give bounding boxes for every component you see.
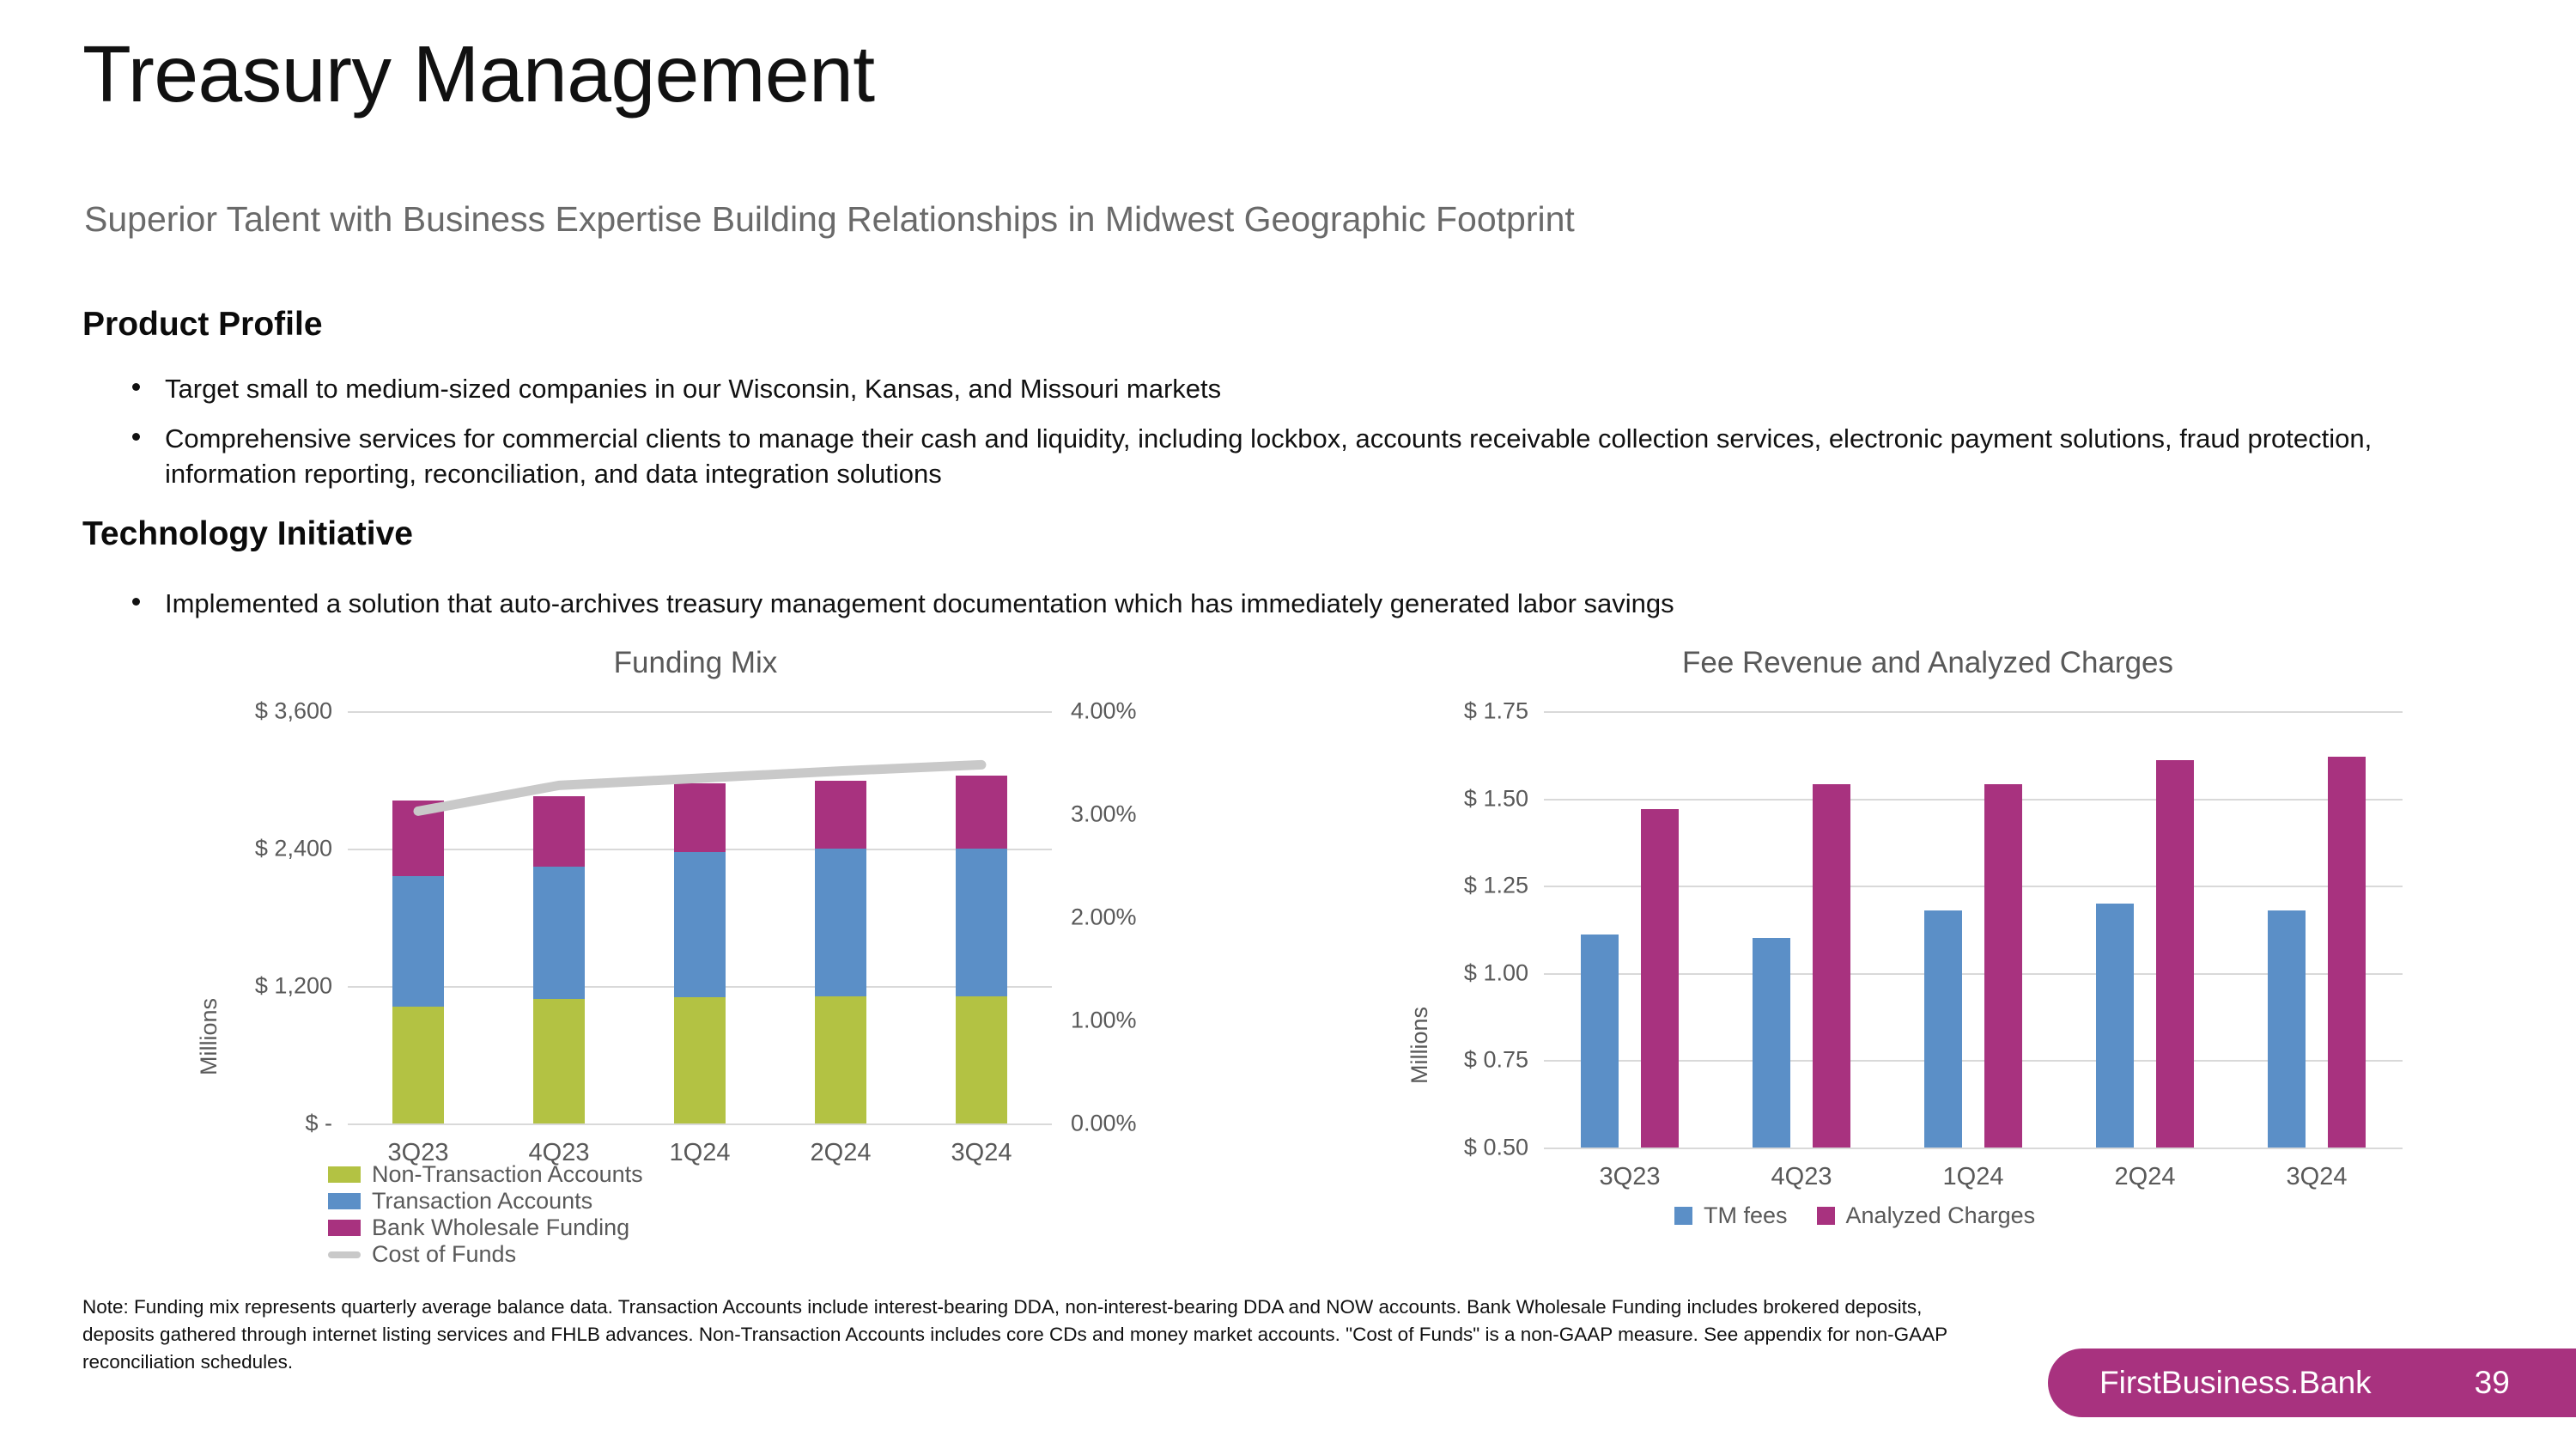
chart-secondary-y-tick-label: 0.00% <box>1071 1111 1137 1137</box>
bullet-dot-icon <box>132 383 140 391</box>
chart-y-tick-label: $ 1.00 <box>1391 959 1528 986</box>
chart-title: Fee Revenue and Analyzed Charges <box>1391 646 2464 680</box>
chart-funding-mix: Funding Mix Millions $ -$ 1,200$ 2,400$ … <box>180 646 1211 1196</box>
chart-bar <box>1581 935 1619 1148</box>
chart-bar <box>2328 757 2366 1148</box>
legend-swatch-icon <box>328 1220 361 1236</box>
chart-x-tick-label: 4Q23 <box>1716 1163 1887 1191</box>
chart-x-tick-label: 3Q23 <box>1544 1163 1716 1191</box>
bullet-list-product-profile: Target small to medium-sized companies i… <box>120 371 2507 492</box>
bullet-text: Target small to medium-sized companies i… <box>165 374 1221 404</box>
page-number: 39 <box>2475 1365 2510 1401</box>
list-item: Comprehensive services for commercial cl… <box>120 421 2507 492</box>
chart-x-tick-label: 3Q24 <box>2231 1163 2403 1191</box>
chart-plot-area <box>348 711 1052 1123</box>
chart-legend: TM feesAnalyzed Charges <box>1674 1202 2275 1229</box>
chart-x-tick-label: 1Q24 <box>1887 1163 2059 1191</box>
chart-x-tick-label: 3Q24 <box>911 1139 1052 1167</box>
legend-label: Transaction Accounts <box>372 1188 592 1215</box>
bullet-text: Implemented a solution that auto-archive… <box>165 588 1674 618</box>
chart-gridline <box>1544 1148 2403 1149</box>
chart-y-tick-label: $ 1.50 <box>1391 785 1528 812</box>
chart-title: Funding Mix <box>180 646 1211 680</box>
legend-label: Bank Wholesale Funding <box>372 1215 629 1241</box>
legend-label: Analyzed Charges <box>1846 1202 2036 1229</box>
section-heading-product-profile: Product Profile <box>82 306 323 344</box>
legend-swatch-icon <box>1674 1207 1692 1225</box>
list-item: Implemented a solution that auto-archive… <box>120 586 2507 622</box>
bullet-dot-icon <box>132 433 140 441</box>
chart-bar <box>2268 910 2306 1148</box>
legend-item[interactable]: Transaction Accounts <box>328 1188 637 1215</box>
chart-bar <box>2156 760 2194 1148</box>
legend-item[interactable]: Non-Transaction Accounts <box>328 1161 637 1188</box>
chart-secondary-y-tick-label: 3.00% <box>1071 801 1137 828</box>
legend-item[interactable]: Cost of Funds <box>328 1241 637 1268</box>
chart-gridline <box>1544 799 2403 801</box>
chart-y-tick-label: $ 1.25 <box>1391 873 1528 899</box>
legend-label: TM fees <box>1704 1202 1788 1229</box>
bullet-list-technology-initiative: Implemented a solution that auto-archive… <box>120 586 2507 622</box>
chart-gridline <box>348 1123 1052 1125</box>
legend-item[interactable]: Analyzed Charges <box>1817 1202 2036 1229</box>
chart-secondary-y-tick-label: 1.00% <box>1071 1008 1137 1034</box>
chart-legend: Non-Transaction AccountsTransaction Acco… <box>328 1161 929 1268</box>
chart-fee-revenue: Fee Revenue and Analyzed Charges Million… <box>1391 646 2464 1196</box>
legend-swatch-icon <box>1817 1207 1835 1225</box>
chart-y-tick-label: $ 1.75 <box>1391 698 1528 725</box>
chart-plot-area <box>1544 711 2403 1148</box>
legend-label: Cost of Funds <box>372 1241 516 1268</box>
legend-item[interactable]: Bank Wholesale Funding <box>328 1215 637 1241</box>
chart-y-tick-label: $ 0.50 <box>1391 1135 1528 1161</box>
chart-gridline <box>1544 711 2403 713</box>
legend-label: Non-Transaction Accounts <box>372 1161 643 1188</box>
chart-line-series <box>348 711 1052 1123</box>
chart-secondary-y-tick-label: 2.00% <box>1071 904 1137 931</box>
legend-swatch-icon <box>328 1193 361 1209</box>
chart-bar <box>2096 904 2134 1148</box>
page-title: Treasury Management <box>82 33 875 117</box>
legend-swatch-icon <box>328 1166 361 1183</box>
chart-bar <box>1924 910 1962 1148</box>
chart-bar <box>1641 809 1679 1148</box>
chart-y-tick-label: $ 2,400 <box>180 836 332 862</box>
list-item: Target small to medium-sized companies i… <box>120 371 2507 407</box>
chart-secondary-y-tick-label: 4.00% <box>1071 698 1137 725</box>
bullet-dot-icon <box>132 598 140 606</box>
section-heading-technology-initiative: Technology Initiative <box>82 515 413 553</box>
chart-y-tick-label: $ - <box>180 1111 332 1137</box>
footer-badge: FirstBusiness.Bank 39 <box>2048 1349 2576 1417</box>
chart-bar <box>1753 938 1790 1148</box>
chart-y-tick-label: $ 1,200 <box>180 973 332 1000</box>
page-subtitle: Superior Talent with Business Expertise … <box>84 199 1575 240</box>
legend-swatch-icon <box>328 1251 361 1258</box>
footnote: Note: Funding mix represents quarterly a… <box>82 1294 1997 1376</box>
slide-root: Treasury Management Superior Talent with… <box>0 0 2576 1449</box>
chart-y-axis-label: Millions <box>196 998 222 1075</box>
legend-item[interactable]: TM fees <box>1674 1202 1788 1229</box>
chart-y-tick-label: $ 0.75 <box>1391 1047 1528 1074</box>
brand-logo-text: FirstBusiness.Bank <box>2099 1365 2372 1401</box>
chart-bar <box>1813 784 1850 1148</box>
bullet-text: Comprehensive services for commercial cl… <box>165 423 2372 490</box>
chart-y-tick-label: $ 3,600 <box>180 698 332 725</box>
chart-bar <box>1984 784 2022 1148</box>
chart-x-tick-label: 2Q24 <box>2059 1163 2231 1191</box>
